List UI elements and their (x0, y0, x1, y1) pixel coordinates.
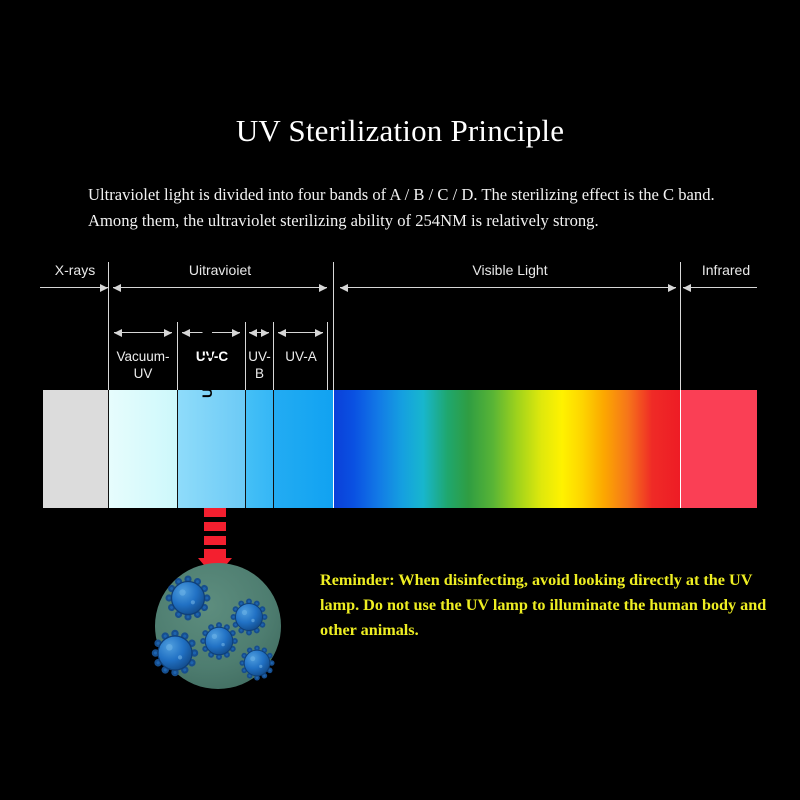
arrow-dash-2 (204, 522, 226, 531)
sub-band-label-vacuum-uv: Vacuum-UV (108, 348, 178, 382)
spectrum-segment-uv-b (245, 390, 273, 508)
arrow-dash-1 (204, 508, 226, 517)
band-label-x-rays: X-rays (38, 262, 112, 278)
divider-uva-end (327, 322, 328, 390)
bar-divider-2 (177, 390, 178, 508)
divider-uv-visible (333, 262, 334, 390)
spectrum-segment-x-rays (43, 390, 108, 508)
divider-visible-infrared (680, 262, 681, 390)
uvc-light-caption: UV-C LIGHT (198, 288, 216, 398)
page-subtitle: Ultraviolet light is divided into four b… (88, 182, 760, 234)
spectrum-segment-uv-a (273, 390, 333, 508)
reminder-text: Reminder: When disinfecting, avoid looki… (320, 568, 780, 643)
band-label-infrared: Infrared (686, 262, 766, 278)
arrow-vacuum-uv (114, 332, 172, 333)
arrow-dash-3 (204, 536, 226, 545)
uvc-light-caption-text: UV-C LIGHT (198, 288, 216, 398)
arrow-uv-b (249, 332, 269, 333)
page-title: UV Sterilization Principle (0, 113, 800, 149)
spectrum-bar (43, 390, 757, 508)
arrow-visible-light (340, 287, 676, 288)
spectrum-segment-uv-c (177, 390, 245, 508)
infographic-canvas: UV Sterilization Principle Ultraviolet l… (0, 0, 800, 800)
bar-divider-1 (108, 390, 109, 508)
sub-band-label-uv-a: UV-A (275, 348, 327, 365)
arrow-infrared (683, 287, 757, 288)
bar-divider-6 (680, 390, 681, 508)
bar-divider-5 (333, 390, 334, 508)
spectrum-segment-visible (333, 390, 680, 508)
virus-colony-circle (140, 558, 296, 692)
band-label-visible-light: Visible Light (345, 262, 675, 278)
spectrum-segment-vacuum-uv (108, 390, 177, 508)
band-label-ultraviolet: Uitravioiet (120, 262, 320, 278)
arrow-ultraviolet (113, 287, 327, 288)
arrow-x-rays (40, 287, 108, 288)
bar-divider-3 (245, 390, 246, 508)
arrow-uv-a (278, 332, 323, 333)
spectrum-segment-infrared (680, 390, 757, 508)
bar-divider-4 (273, 390, 274, 508)
sub-band-label-uv-b: UV-B (245, 348, 274, 382)
